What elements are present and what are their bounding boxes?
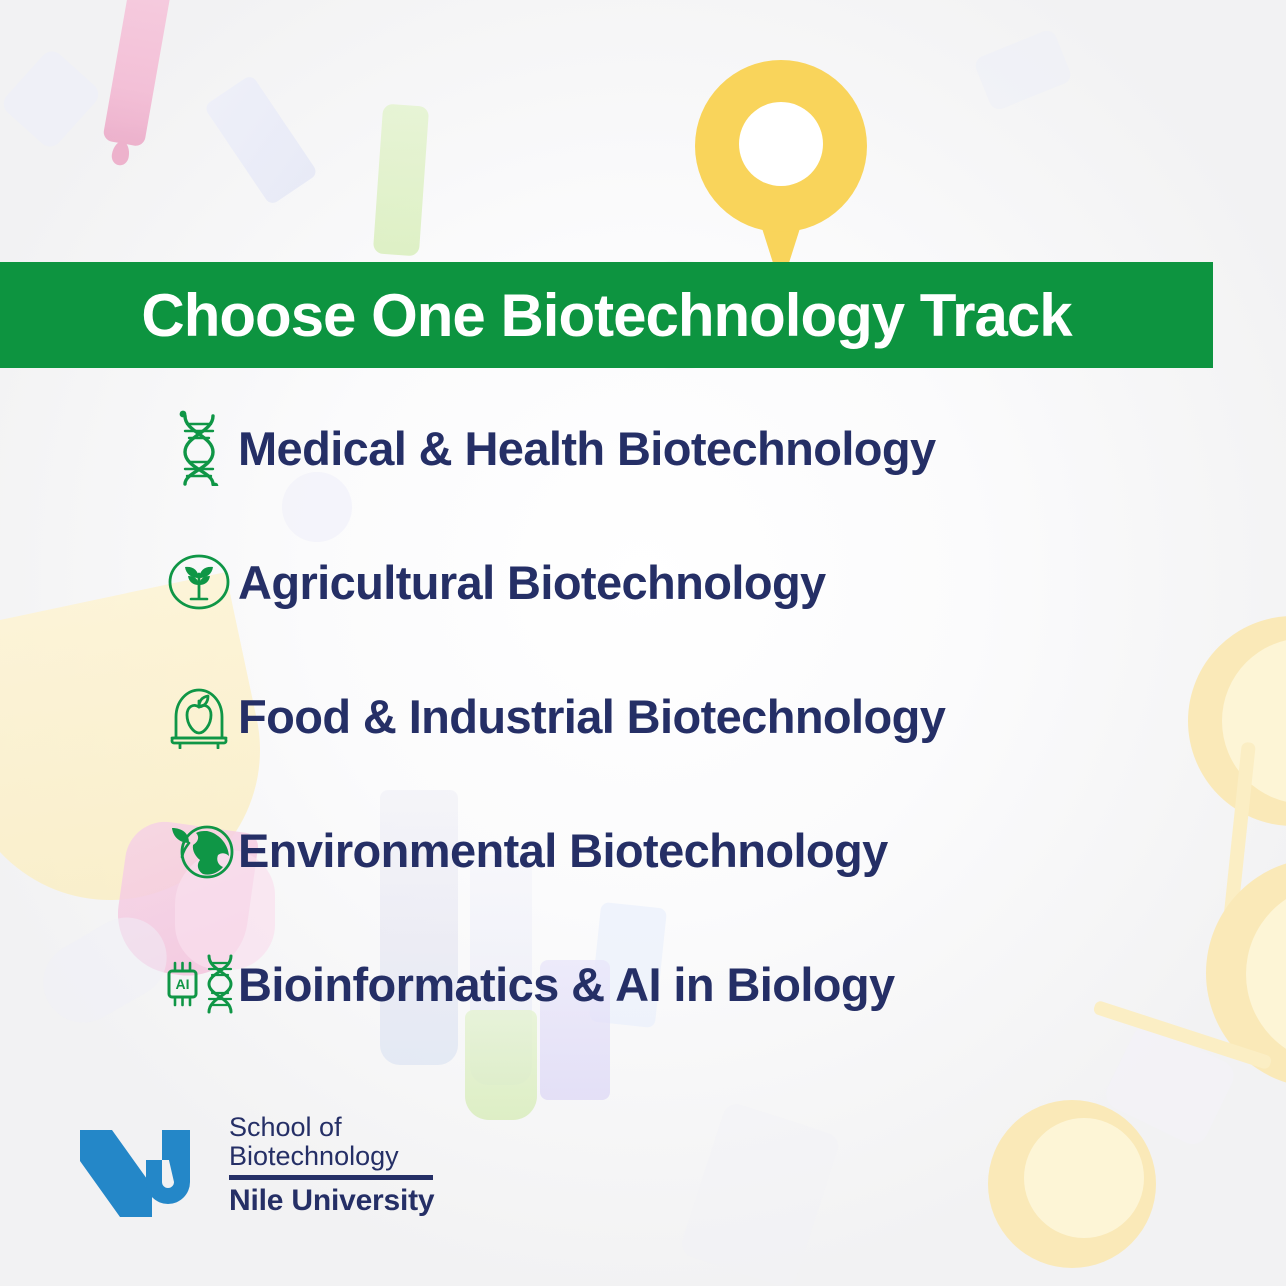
logo-divider [229, 1175, 433, 1180]
logo-school-line1: School of [229, 1113, 434, 1142]
track-list: Medical & Health Biotechnology Agricultu… [160, 404, 1160, 1074]
map-pin-hole [739, 102, 823, 186]
globe-with-leaf-icon [160, 819, 238, 881]
bg-molecule-node [1246, 884, 1286, 1064]
banner: Choose One Biotechnology Track [0, 262, 1213, 368]
bg-molecule-node [1222, 638, 1286, 804]
bg-molecule-node [1024, 1118, 1144, 1238]
bg-molecule-node [1206, 858, 1286, 1088]
bg-tube-shape [373, 104, 429, 257]
plant-in-circle-icon [160, 552, 238, 612]
dna-helix-icon [160, 410, 238, 486]
bg-tube-shape [0, 47, 103, 152]
bg-molecule-link [1222, 742, 1256, 932]
bg-tube-shape [203, 74, 318, 206]
map-pin-icon [695, 60, 867, 288]
bg-blob-shape [29, 903, 182, 1037]
apple-under-cloche-icon [160, 683, 238, 749]
ai-chip-dna-icon: AI [160, 951, 238, 1017]
track-item-medical[interactable]: Medical & Health Biotechnology [160, 404, 1160, 492]
bg-pipette-shape [102, 0, 175, 147]
nu-monogram-icon [78, 1124, 211, 1222]
bg-molecule-node [1188, 616, 1286, 826]
logo-school-line2: Biotechnology [229, 1142, 434, 1171]
poster: Choose One Biotechnology Track [0, 0, 1286, 1286]
track-item-food[interactable]: Food & Industrial Biotechnology [160, 672, 1160, 760]
logo-university: Nile University [229, 1184, 434, 1218]
bg-tube-shape [973, 28, 1074, 112]
track-label: Food & Industrial Biotechnology [238, 689, 945, 744]
svg-text:AI: AI [176, 976, 190, 992]
logo-text: School of Biotechnology Nile University [229, 1113, 434, 1222]
track-label: Environmental Biotechnology [238, 823, 888, 878]
track-item-agricultural[interactable]: Agricultural Biotechnology [160, 538, 1160, 626]
track-label: Bioinformatics & AI in Biology [238, 957, 895, 1012]
track-item-environmental[interactable]: Environmental Biotechnology [160, 806, 1160, 894]
track-item-bioinformatics[interactable]: AI Bioinformatics & AI i [160, 940, 1160, 1028]
page-title: Choose One Biotechnology Track [141, 281, 1071, 350]
bg-blob-shape [678, 1100, 842, 1286]
track-label: Medical & Health Biotechnology [238, 421, 936, 476]
track-label: Agricultural Biotechnology [238, 555, 826, 610]
logo: School of Biotechnology Nile University [78, 1113, 434, 1222]
bg-molecule-node [988, 1100, 1156, 1268]
